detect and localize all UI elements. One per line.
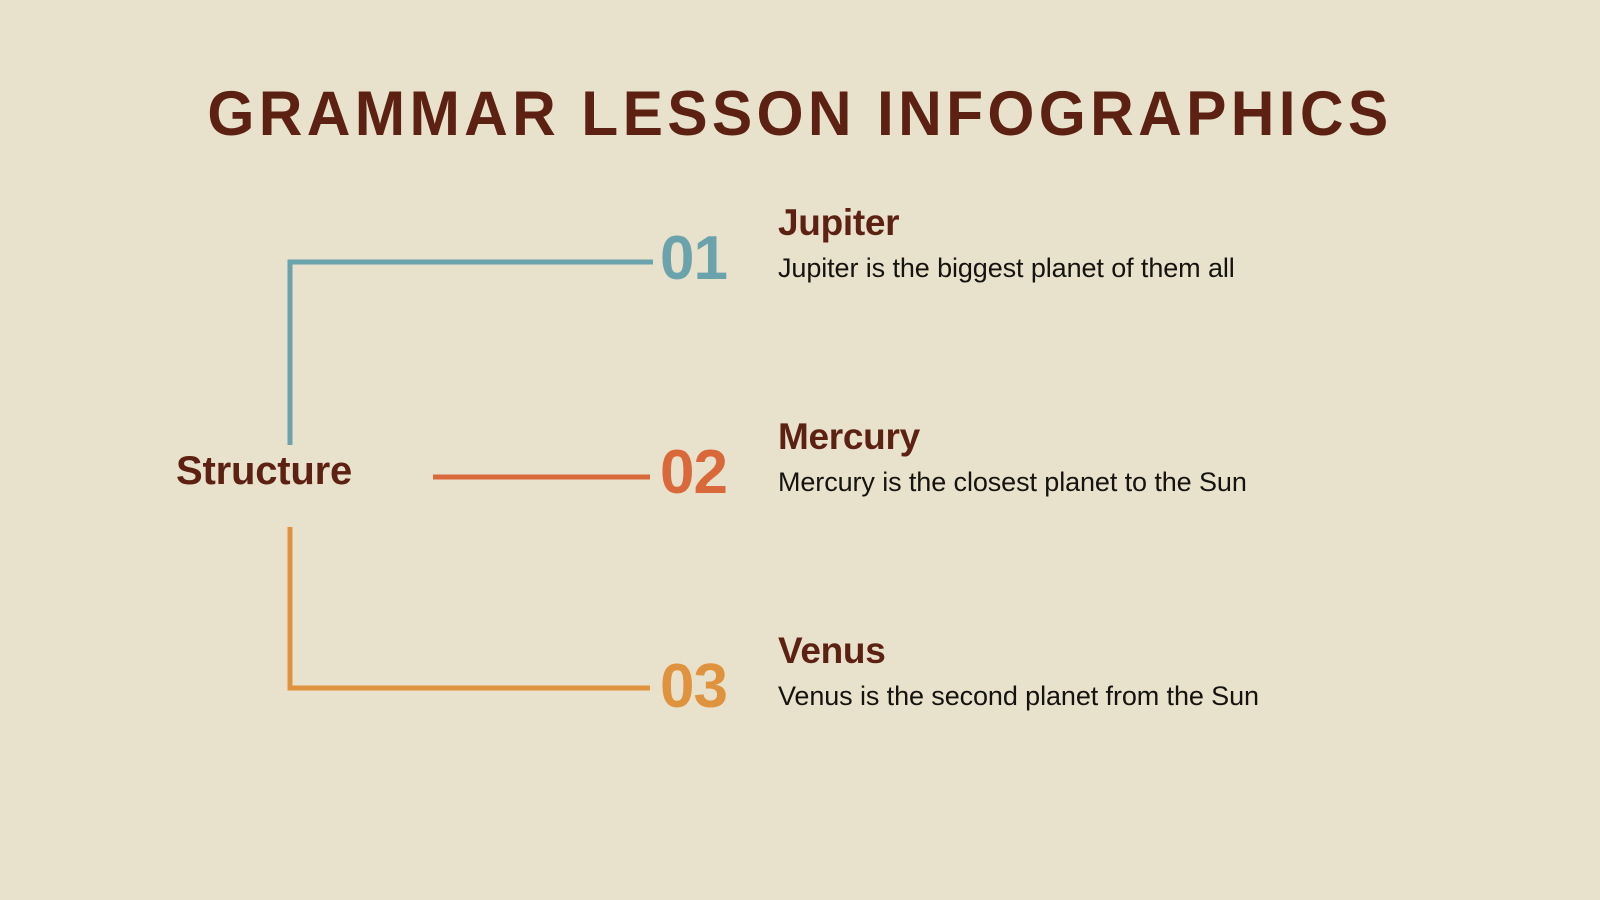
item-number-01: 01 (660, 202, 778, 290)
connector-line-03 (290, 527, 650, 688)
infographic-item-02: 02 Mercury Mercury is the closest planet… (660, 416, 1480, 536)
item-description-01: Jupiter is the biggest planet of them al… (778, 252, 1480, 284)
item-number-03: 03 (660, 630, 778, 718)
item-text-block-02: Mercury Mercury is the closest planet to… (778, 416, 1480, 498)
root-node-label: Structure (176, 449, 352, 494)
item-description-02: Mercury is the closest planet to the Sun (778, 466, 1480, 498)
infographic-item-03: 03 Venus Venus is the second planet from… (660, 630, 1480, 750)
item-number-02: 02 (660, 416, 778, 504)
connector-line-01 (290, 262, 653, 445)
item-text-block-03: Venus Venus is the second planet from th… (778, 630, 1480, 712)
item-heading-01: Jupiter (778, 204, 1480, 243)
infographic-item-01: 01 Jupiter Jupiter is the biggest planet… (660, 202, 1480, 322)
item-heading-02: Mercury (778, 418, 1480, 457)
page-title: GRAMMAR LESSON INFOGRAPHICS (32, 78, 1568, 150)
item-description-03: Venus is the second planet from the Sun (778, 680, 1480, 712)
item-text-block-01: Jupiter Jupiter is the biggest planet of… (778, 202, 1480, 284)
slide-canvas: GRAMMAR LESSON INFOGRAPHICS Structure 01… (0, 0, 1600, 900)
item-heading-03: Venus (778, 632, 1480, 671)
